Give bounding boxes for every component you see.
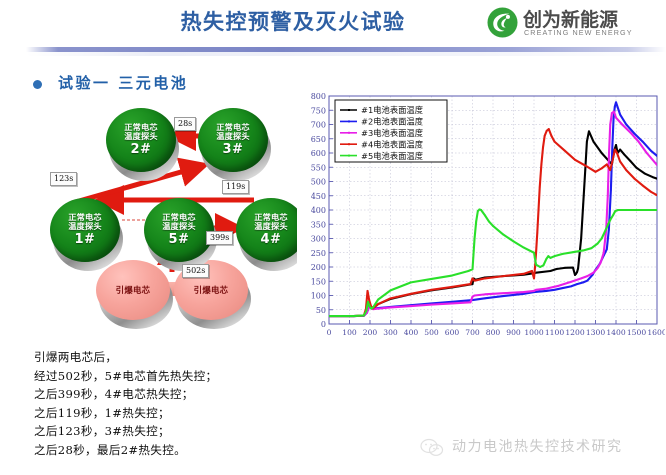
caption-line: 之后119秒，1#热失控； xyxy=(34,404,314,423)
svg-text:800: 800 xyxy=(311,92,326,101)
experiment-caption: 引爆两电芯后， 经过502秒，5#电芯首先热失控； 之后399秒，4#电芯热失控… xyxy=(34,348,314,460)
svg-text:500: 500 xyxy=(424,328,439,337)
probe-cell-text: 正常电芯 温度探头 1# xyxy=(50,198,120,262)
svg-text:600: 600 xyxy=(311,149,326,158)
probe-cell-text: 正常电芯 温度探头 4# xyxy=(236,198,306,262)
caption-line: 引爆两电芯后， xyxy=(34,348,314,367)
caption-line: 之后123秒，3#热失控； xyxy=(34,422,314,441)
svg-text:250: 250 xyxy=(311,249,326,258)
svg-text:800: 800 xyxy=(486,328,501,337)
header-divider-shadow xyxy=(26,52,666,56)
svg-text:700: 700 xyxy=(311,121,326,130)
chart-svg: 0501001502002503003504004505005506006507… xyxy=(297,88,665,350)
probe-cell-2[interactable]: 正常电芯 温度探头 2# xyxy=(106,108,180,182)
time-label-28s: 28s xyxy=(174,117,196,131)
probe-cell-1[interactable]: 正常电芯 温度探头 1# xyxy=(50,198,124,272)
probe-number: 4# xyxy=(261,233,282,248)
svg-text:#1电池表面温度: #1电池表面温度 xyxy=(361,105,423,115)
probe-number: 5# xyxy=(169,233,190,248)
probe-cell-text: 正常电芯 温度探头 5# xyxy=(144,198,214,262)
svg-text:650: 650 xyxy=(311,135,326,144)
svg-text:1500: 1500 xyxy=(627,328,646,337)
svg-text:900: 900 xyxy=(506,328,521,337)
svg-text:400: 400 xyxy=(404,328,419,337)
svg-text:1600: 1600 xyxy=(647,328,665,337)
probe-number: 2# xyxy=(131,143,152,158)
svg-text:200: 200 xyxy=(311,263,326,272)
svg-text:1400: 1400 xyxy=(606,328,625,337)
svg-text:100: 100 xyxy=(311,292,326,301)
svg-text:100: 100 xyxy=(342,328,357,337)
svg-text:1300: 1300 xyxy=(586,328,605,337)
svg-text:500: 500 xyxy=(311,178,326,187)
caption-line: 之后399秒，4#电芯热失控； xyxy=(34,385,314,404)
svg-text:0: 0 xyxy=(327,328,332,337)
svg-text:300: 300 xyxy=(383,328,398,337)
caption-line: 之后28秒，最后2#热失控。 xyxy=(34,441,314,460)
svg-text:50: 50 xyxy=(316,306,326,315)
probe-line-2: 温度探头 xyxy=(216,132,250,141)
svg-text:1100: 1100 xyxy=(545,328,564,337)
footer-label: 动力电池热失控技术研究 xyxy=(452,436,623,456)
time-label-502s: 502s xyxy=(182,264,209,278)
svg-text:#2电池表面温度: #2电池表面温度 xyxy=(361,117,423,127)
probe-number: 3# xyxy=(223,143,244,158)
svg-text:1000: 1000 xyxy=(524,328,543,337)
svg-text:300: 300 xyxy=(311,235,326,244)
section-title: 试验一 三元电池 xyxy=(58,72,188,93)
svg-text:750: 750 xyxy=(311,106,326,115)
time-label-123s: 123s xyxy=(50,172,77,186)
probe-line-2: 温度探头 xyxy=(124,132,158,141)
probe-line-2: 温度探头 xyxy=(162,222,196,231)
leaf-circle-logo-icon xyxy=(487,7,518,38)
probe-cell-text: 正常电芯 温度探头 2# xyxy=(106,108,176,172)
svg-text:200: 200 xyxy=(363,328,378,337)
svg-text:600: 600 xyxy=(445,328,460,337)
probe-line-2: 温度探头 xyxy=(68,222,102,231)
time-label-399s: 399s xyxy=(206,231,233,245)
battery-module-diagram: 引爆电芯 引爆电芯 正常电芯 温度探头 2# 正常电芯 温度探头 3# xyxy=(22,100,312,335)
svg-text:#5电池表面温度: #5电池表面温度 xyxy=(361,151,423,161)
svg-text:#3电池表面温度: #3电池表面温度 xyxy=(361,128,423,138)
brand-name-en: CREATING NEW ENERGY xyxy=(524,28,633,37)
svg-text:400: 400 xyxy=(311,206,326,215)
probe-line-2: 温度探头 xyxy=(254,222,288,231)
probe-number: 1# xyxy=(75,233,96,248)
svg-text:#4电池表面温度: #4电池表面温度 xyxy=(361,139,423,149)
slide-root: 热失控预警及灭火试验 创为新能源 CREATING NEW ENERGY 试验一… xyxy=(0,0,666,475)
probe-cell-3[interactable]: 正常电芯 温度探头 3# xyxy=(198,108,272,182)
temperature-chart: 0501001502002503003504004505005506006507… xyxy=(297,88,665,350)
caption-line: 经过502秒，5#电芯首先热失控； xyxy=(34,367,314,386)
slide-header: 热失控预警及灭火试验 创为新能源 CREATING NEW ENERGY xyxy=(0,0,666,47)
svg-text:450: 450 xyxy=(311,192,326,201)
probe-cell-text: 正常电芯 温度探头 3# xyxy=(198,108,268,172)
time-label-119s: 119s xyxy=(222,180,249,194)
svg-text:0: 0 xyxy=(321,320,326,329)
wechat-icon xyxy=(418,436,444,458)
svg-text:550: 550 xyxy=(311,163,326,172)
svg-text:150: 150 xyxy=(311,277,326,286)
svg-text:1200: 1200 xyxy=(565,328,584,337)
section-bullet-icon xyxy=(33,80,42,89)
slide-footer: 动力电池热失控技术研究 xyxy=(418,430,666,466)
svg-text:350: 350 xyxy=(311,220,326,229)
page-title: 热失控预警及灭火试验 xyxy=(128,6,458,36)
brand-logo: 创为新能源 CREATING NEW ENERGY xyxy=(487,6,659,42)
svg-text:700: 700 xyxy=(465,328,480,337)
